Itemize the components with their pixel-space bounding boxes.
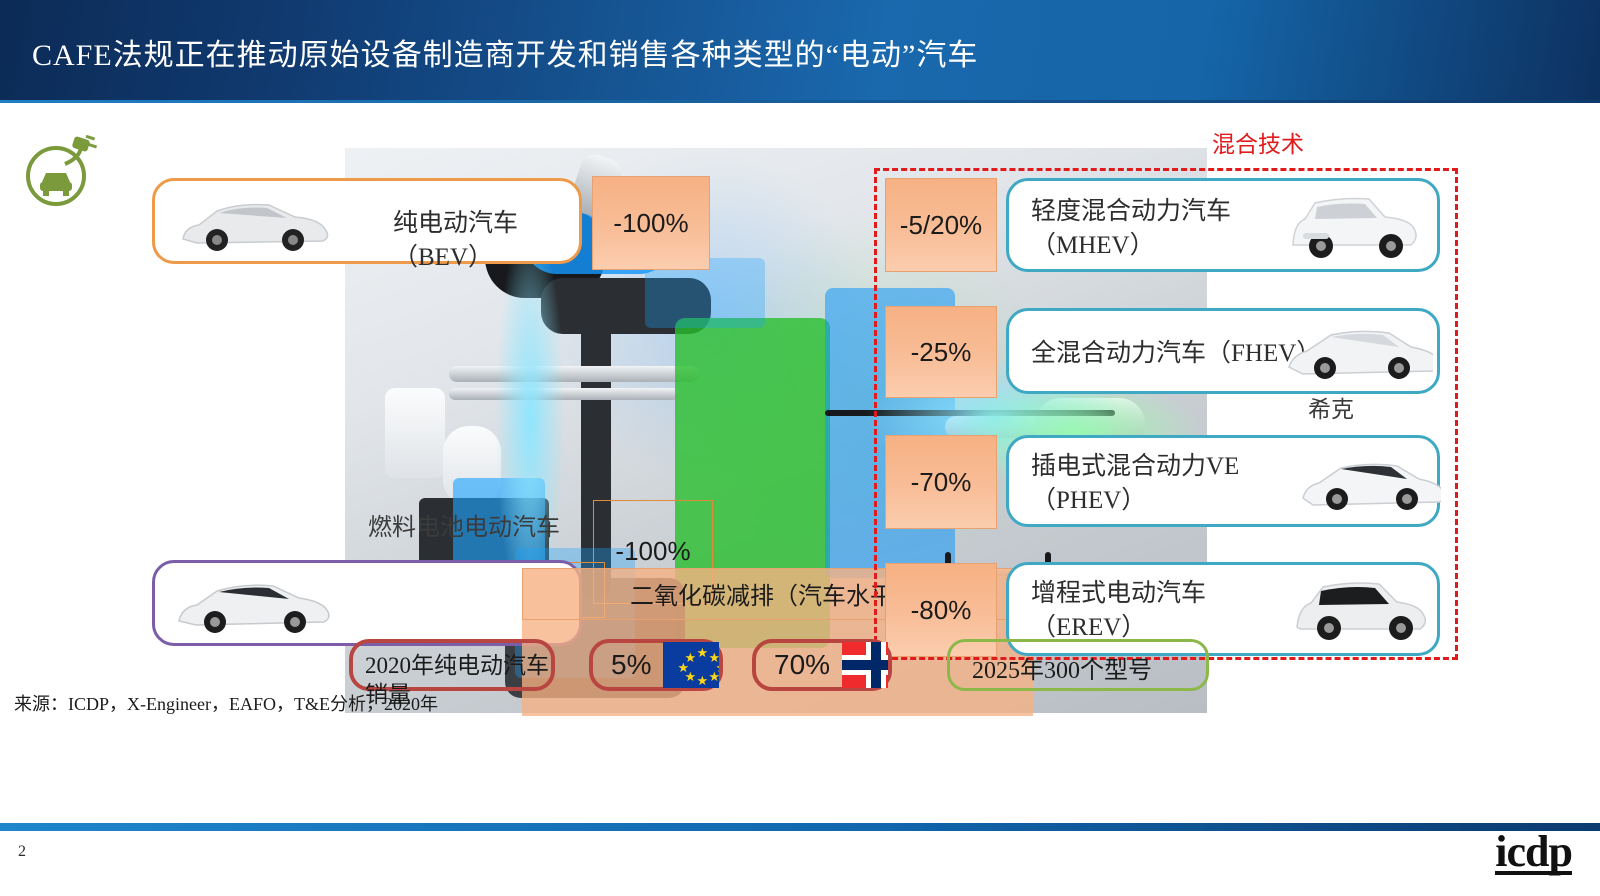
- hybrid-technology-title: 混合技术: [1212, 125, 1304, 159]
- fcev-label: 燃料电池电动汽车: [368, 507, 560, 542]
- mhev-co2-chip: -5/20%: [885, 178, 997, 272]
- car-image-fhev: [1281, 319, 1433, 385]
- bev-co2-chip: -100%: [592, 176, 710, 270]
- phev-co2-chip: -70%: [885, 435, 997, 529]
- bev-label: 纯电动汽车（BEV）: [393, 207, 579, 275]
- stat-pill-eu: 5% ★ ★ ★ ★ ★ ★ ★ ★: [589, 639, 723, 691]
- fhev-label: 全混合动力汽车（FHEV）: [1031, 337, 1321, 371]
- ev-plug-icon: [16, 124, 102, 212]
- phev-card[interactable]: 插电式混合动力VE （PHEV）: [1006, 435, 1440, 527]
- model-count-label: 2025年300个型号: [972, 650, 1152, 685]
- brand-logo-text: icdp: [1495, 827, 1572, 876]
- footer-rule: [0, 823, 1600, 831]
- title-underline: [0, 100, 1600, 103]
- fcev-card[interactable]: [152, 560, 582, 646]
- stat-value-norway: 70%: [774, 649, 830, 681]
- stat-value-eu: 5%: [611, 649, 651, 681]
- car-image-phev: [1295, 452, 1441, 516]
- car-image-mhev: [1281, 193, 1429, 263]
- page-number: 2: [18, 843, 26, 861]
- car-image-fcev: [171, 575, 337, 635]
- car-image-erev: [1287, 579, 1437, 645]
- european-union-flag: ★ ★ ★ ★ ★ ★ ★ ★: [663, 642, 719, 688]
- page-title: CAFE法规正在推动原始设备制造商开发和销售各种类型的“电动”汽车: [32, 30, 978, 74]
- bev-card[interactable]: 纯电动汽车（BEV）: [152, 178, 582, 264]
- stat-pill-norway: 70%: [752, 639, 892, 691]
- brand-logo: icdp: [1495, 826, 1572, 875]
- fhev-co2-chip: -25%: [885, 306, 997, 398]
- mhev-card[interactable]: 轻度混合动力汽车 （MHEV）: [1006, 178, 1440, 272]
- phev-label: 插电式混合动力VE （PHEV）: [1031, 450, 1239, 518]
- slide-title-bar: CAFE法规正在推动原始设备制造商开发和销售各种类型的“电动”汽车: [0, 0, 1600, 100]
- car-image-bev: [173, 195, 337, 253]
- norway-flag: [842, 642, 888, 688]
- mhev-label: 轻度混合动力汽车 （MHEV）: [1031, 195, 1231, 263]
- fhev-card[interactable]: 全混合动力汽车（FHEV）: [1006, 308, 1440, 394]
- source-note: 来源：ICDP，X-Engineer，EAFO，T&E分析，2020年: [14, 690, 438, 716]
- erev-label: 增程式电动汽车 （EREV）: [1031, 577, 1206, 645]
- fhev-caption: 希克: [1308, 390, 1354, 424]
